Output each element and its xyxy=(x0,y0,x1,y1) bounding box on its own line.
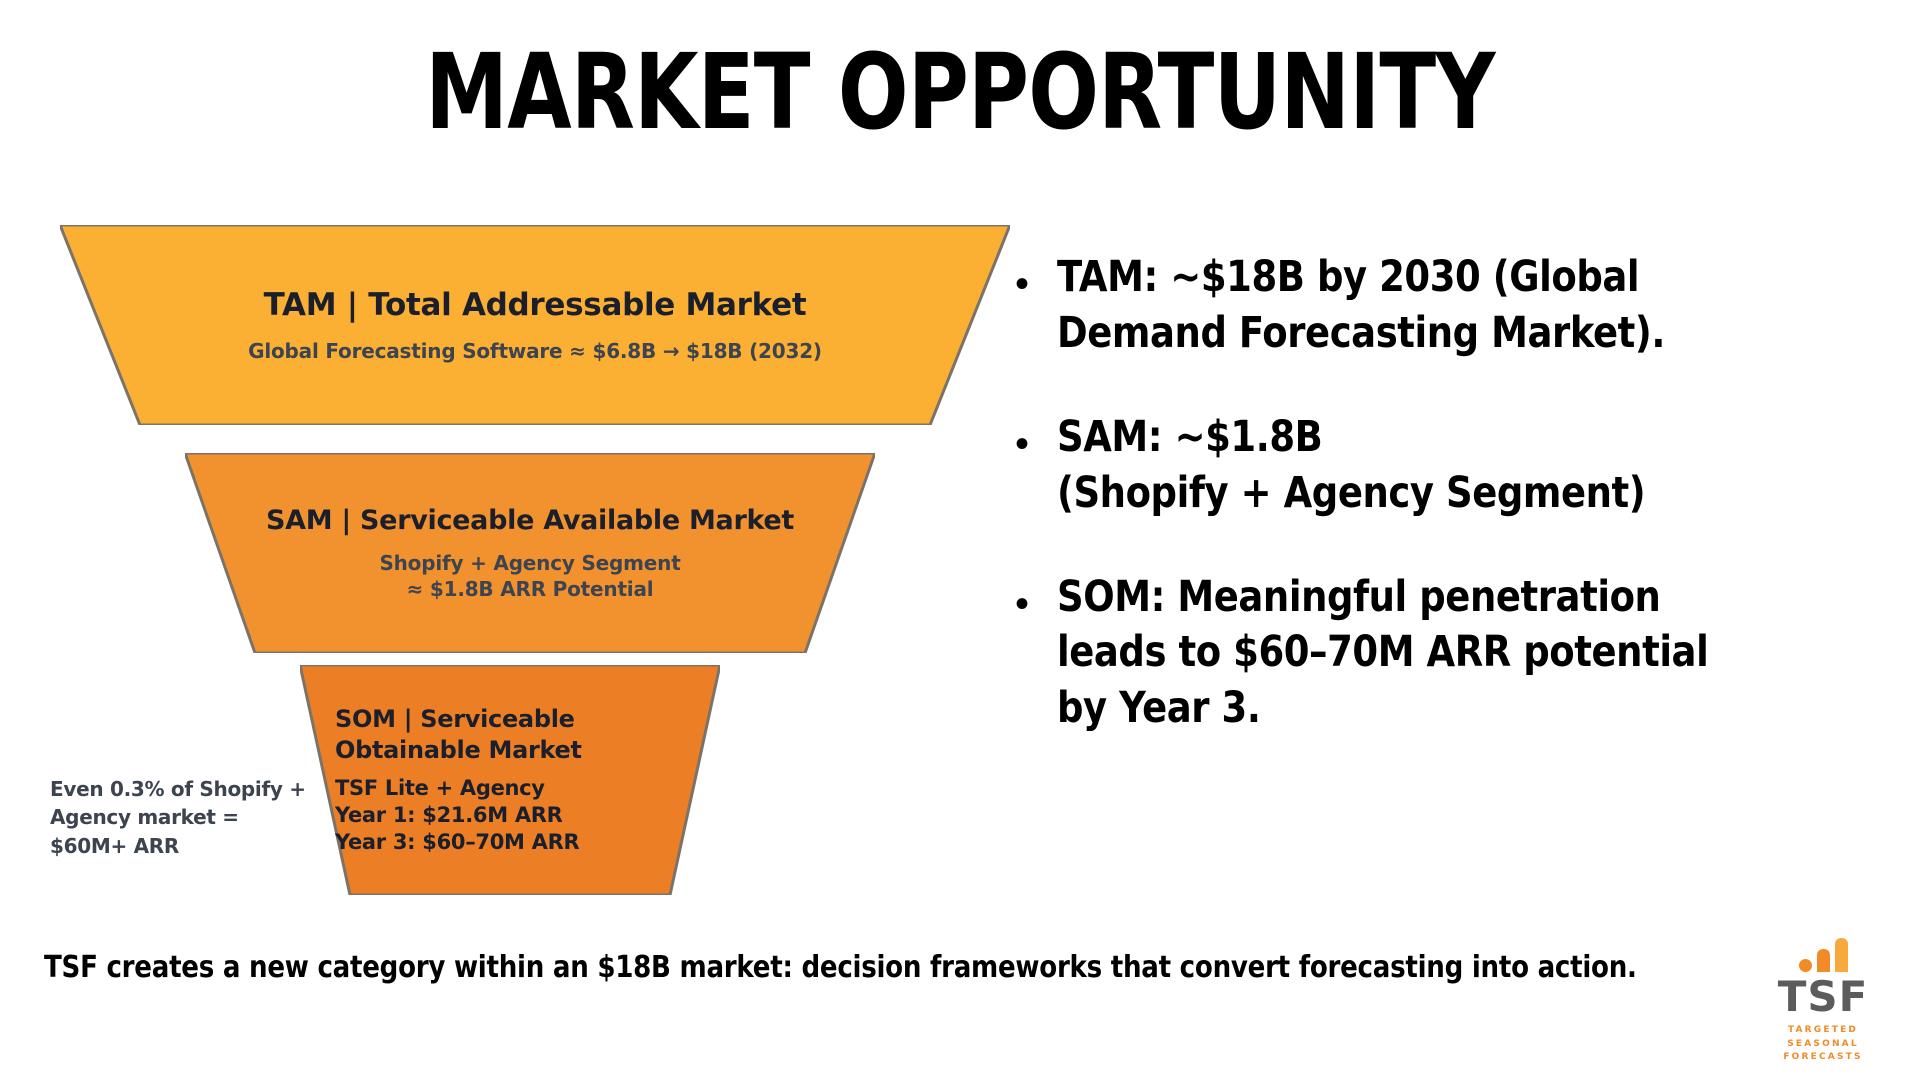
tam-subtitle: Global Forecasting Software ≈ $6.8B → $1… xyxy=(100,339,970,363)
bottom-caption: TSF creates a new category within an $18… xyxy=(44,950,1637,985)
som-title: SOM | Serviceable Obtainable Market xyxy=(310,704,710,765)
list-item: • SOM: Meaningful penetration leads to $… xyxy=(1015,570,1920,738)
logo-bar-tall xyxy=(1835,938,1848,972)
logo-tagline-line1: TARGETED xyxy=(1758,1024,1888,1038)
logo-bar-short xyxy=(1817,949,1830,972)
list-item: • TAM: ~$18B by 2030 (Global Demand Fore… xyxy=(1015,250,1920,362)
som-subtitle: TSF Lite + Agency Year 1: $21.6M ARR Yea… xyxy=(310,775,710,856)
bullet-text-sam: SAM: ~$1.8B (Shopify + Agency Segment) xyxy=(1057,410,1799,522)
logo-tagline-line2: SEASONAL FORECASTS xyxy=(1758,1038,1888,1065)
bar-chart-icon xyxy=(1758,938,1888,972)
sam-title: SAM | Serviceable Available Market xyxy=(225,505,835,536)
tam-title: TAM | Total Addressable Market xyxy=(100,287,970,323)
funnel-segment-sam[interactable]: SAM | Serviceable Available Market Shopi… xyxy=(185,453,875,653)
bullet-dot-icon: • xyxy=(1015,410,1057,464)
funnel-segment-som[interactable]: SOM | Serviceable Obtainable Market TSF … xyxy=(300,665,720,895)
slide-market-opportunity: MARKET OPPORTUNITY TAM | Total Addressab… xyxy=(0,0,1920,1080)
bullet-dot-icon: • xyxy=(1015,250,1057,304)
sam-subtitle: Shopify + Agency Segment ≈ $1.8B ARR Pot… xyxy=(225,550,835,602)
page-title: MARKET OPPORTUNITY xyxy=(192,38,1728,147)
logo-dot-shape xyxy=(1799,959,1812,972)
bullet-text-som: SOM: Meaningful penetration leads to $60… xyxy=(1057,570,1799,738)
list-item: • SAM: ~$1.8B (Shopify + Agency Segment) xyxy=(1015,410,1920,522)
tsf-logo: TSF TARGETED SEASONAL FORECASTS xyxy=(1758,938,1888,1058)
bullet-text-tam: TAM: ~$18B by 2030 (Global Demand Foreca… xyxy=(1057,250,1799,362)
bullet-dot-icon: • xyxy=(1015,570,1057,624)
logo-wordmark: TSF xyxy=(1758,976,1888,1018)
funnel-segment-tam[interactable]: TAM | Total Addressable Market Global Fo… xyxy=(60,225,1010,425)
bullet-list: • TAM: ~$18B by 2030 (Global Demand Fore… xyxy=(1015,250,1920,785)
